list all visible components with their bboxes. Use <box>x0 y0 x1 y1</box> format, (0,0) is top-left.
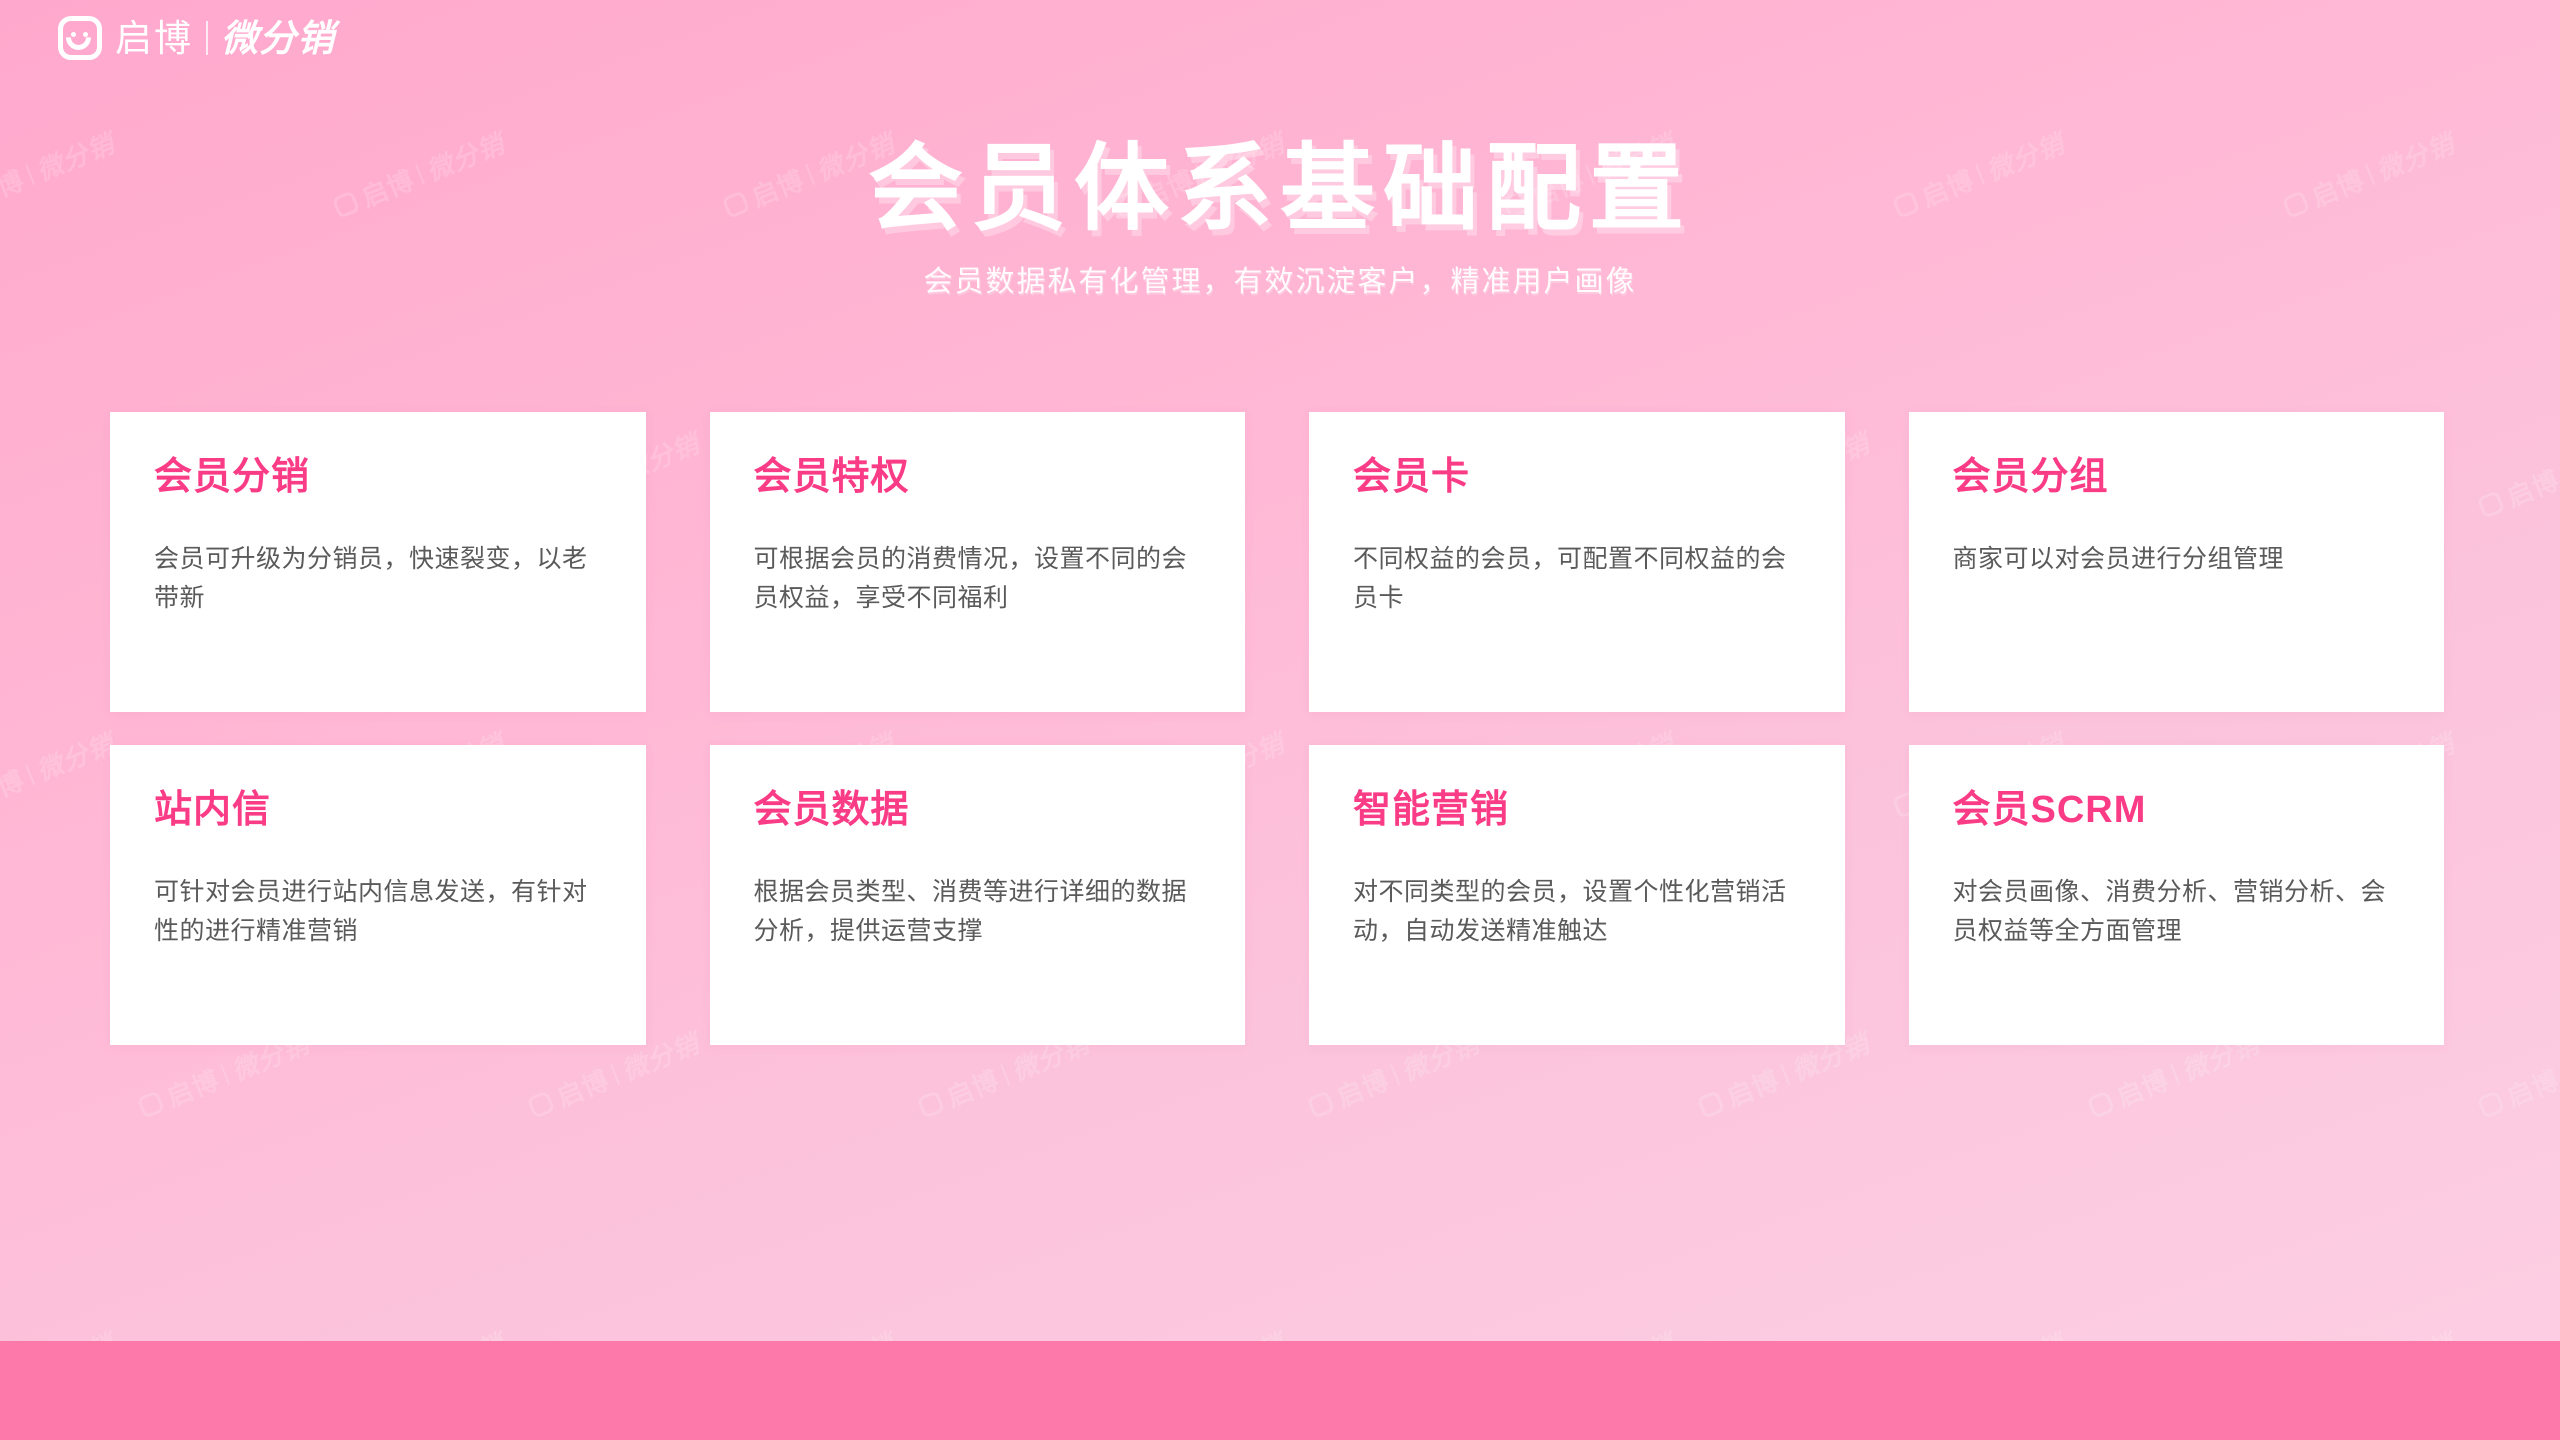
feature-card-description: 可针对会员进行站内信息发送，有针对性的进行精准营销 <box>154 873 602 951</box>
watermark-mark-icon <box>2476 1090 2505 1119</box>
watermark-mark-icon <box>1696 1090 1725 1119</box>
watermark-separator <box>25 764 35 785</box>
slide-root: 启博微分销启博微分销启博微分销启博微分销启博微分销启博微分销启博微分销启博微分销… <box>0 0 2560 1440</box>
feature-card[interactable]: 会员特权 可根据会员的消费情况，设置不同的会员权益，享受不同福利 <box>710 412 1246 712</box>
watermark-name: 启博 <box>161 1060 225 1115</box>
feature-card-description: 可根据会员的消费情况，设置不同的会员权益，享受不同福利 <box>754 540 1202 618</box>
watermark-name: 启博 <box>2111 1060 2175 1115</box>
feature-card[interactable]: 会员SCRM 对会员画像、消费分析、营销分析、会员权益等全方面管理 <box>1909 745 2445 1045</box>
feature-card-title: 会员SCRM <box>1953 791 2401 829</box>
watermark-name: 启博 <box>941 1060 1005 1115</box>
feature-card-description: 根据会员类型、消费等进行详细的数据分析，提供运营支撑 <box>754 873 1202 951</box>
smile-arc <box>61 20 96 55</box>
watermark-subname: 微分销 <box>30 724 119 789</box>
watermark-name: 启博 <box>0 760 29 815</box>
page-title: 会员体系基础配置 <box>0 140 2560 240</box>
feature-card[interactable]: 会员数据 根据会员类型、消费等进行详细的数据分析，提供运营支撑 <box>710 745 1246 1045</box>
feature-card-description: 对不同类型的会员，设置个性化营销活动，自动发送精准触达 <box>1353 873 1801 951</box>
eye-left-icon <box>71 32 76 37</box>
watermark-name: 启博 <box>551 1060 615 1115</box>
watermark-separator <box>1780 1064 1790 1085</box>
feature-card-description: 会员可升级为分销员，快速裂变，以老带新 <box>154 540 602 618</box>
watermark-separator <box>1390 1064 1400 1085</box>
brand-subname: 微分销 <box>221 20 335 57</box>
hero-section: 会员体系基础配置 会员数据私有化管理，有效沉淀客户，精准用户画像 <box>0 140 2560 300</box>
feature-card-title: 会员分销 <box>154 458 602 496</box>
feature-card-title: 会员特权 <box>754 458 1202 496</box>
watermark-separator <box>1000 1064 1010 1085</box>
feature-card[interactable]: 会员分销 会员可升级为分销员，快速裂变，以老带新 <box>110 412 646 712</box>
bottom-bar <box>0 1341 2560 1440</box>
feature-card-title: 会员卡 <box>1353 458 1801 496</box>
feature-card-title: 站内信 <box>154 791 602 829</box>
watermark-separator <box>2170 1064 2180 1085</box>
watermark-name: 启博 <box>1721 1060 1785 1115</box>
brand-name: 启博 <box>115 20 193 57</box>
watermark-item: 启博微分销 <box>2474 424 2560 526</box>
feature-card[interactable]: 站内信 可针对会员进行站内信息发送，有针对性的进行精准营销 <box>110 745 646 1045</box>
feature-card[interactable]: 智能营销 对不同类型的会员，设置个性化营销活动，自动发送精准触达 <box>1309 745 1845 1045</box>
page-subtitle: 会员数据私有化管理，有效沉淀客户，精准用户画像 <box>0 258 2560 300</box>
feature-card[interactable]: 会员分组 商家可以对会员进行分组管理 <box>1909 412 2445 712</box>
watermark-name: 启博 <box>2501 460 2560 515</box>
feature-card[interactable]: 会员卡 不同权益的会员，可配置不同权益的会员卡 <box>1309 412 1845 712</box>
feature-card-title: 智能营销 <box>1353 791 1801 829</box>
watermark-separator <box>610 1064 620 1085</box>
feature-card-title: 会员数据 <box>754 791 1202 829</box>
watermark-separator <box>220 1064 230 1085</box>
feature-card-title: 会员分组 <box>1953 458 2401 496</box>
watermark-mark-icon <box>136 1090 165 1119</box>
feature-card-description: 不同权益的会员，可配置不同权益的会员卡 <box>1353 540 1801 618</box>
watermark-name: 启博 <box>1331 1060 1395 1115</box>
watermark-mark-icon <box>2476 490 2505 519</box>
watermark-mark-icon <box>2086 1090 2115 1119</box>
feature-card-description: 对会员画像、消费分析、营销分析、会员权益等全方面管理 <box>1953 873 2401 951</box>
feature-card-grid: 会员分销 会员可升级为分销员，快速裂变，以老带新 会员特权 可根据会员的消费情况… <box>110 412 2444 1045</box>
watermark-mark-icon <box>1306 1090 1335 1119</box>
watermark-mark-icon <box>526 1090 555 1119</box>
brand-logo: 启博 微分销 <box>58 16 335 60</box>
watermark-mark-icon <box>916 1090 945 1119</box>
feature-card-description: 商家可以对会员进行分组管理 <box>1953 540 2401 579</box>
watermark-name: 启博 <box>2501 1060 2560 1115</box>
brand-separator <box>206 21 208 55</box>
watermark-item: 启博微分销 <box>2474 1024 2560 1126</box>
eye-right-icon <box>83 32 88 37</box>
smiley-rounded-square-icon <box>58 16 102 60</box>
watermark-item: 启博微分销 <box>0 724 119 826</box>
